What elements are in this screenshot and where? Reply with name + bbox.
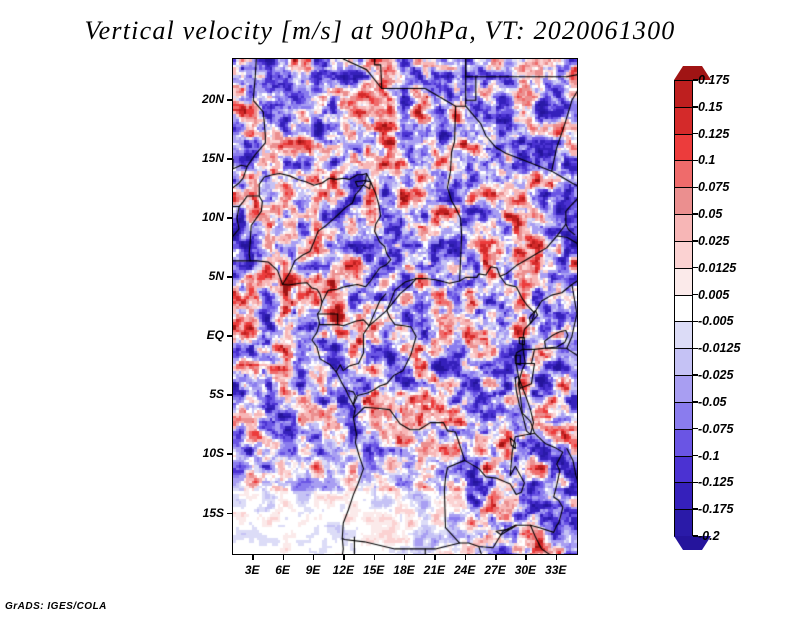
latitude-tick-mark — [227, 217, 232, 219]
longitude-tick-label: 27E — [484, 563, 505, 577]
colorbar-segment — [674, 241, 693, 269]
colorbar-tick-mark — [693, 106, 698, 107]
colorbar-tick-label: 0.15 — [698, 100, 722, 114]
colorbar-tick-mark — [693, 133, 698, 134]
colorbar-segment — [674, 80, 693, 108]
longitude-tick-mark — [313, 555, 315, 560]
colorbar-tick-label: 0.175 — [698, 73, 729, 87]
colorbar-tick-label: -0.2 — [698, 529, 720, 543]
longitude-tick-mark — [465, 555, 467, 560]
colorbar-tick-label: 0.075 — [698, 180, 729, 194]
colorbar-segment — [674, 134, 693, 162]
colorbar-tick-mark — [693, 348, 698, 349]
colorbar-tick-mark — [693, 482, 698, 483]
colorbar-tick-mark — [693, 455, 698, 456]
longitude-tick-label: 33E — [545, 563, 566, 577]
latitude-tick-label: 10S — [186, 446, 224, 460]
colorbar-segment — [674, 429, 693, 457]
latitude-tick-label: 5S — [186, 387, 224, 401]
latitude-tick-label: 20N — [186, 92, 224, 106]
longitude-tick-mark — [283, 555, 285, 560]
footer-credit: GrADS: IGES/COLA — [5, 601, 107, 612]
colorbar-segment — [674, 187, 693, 215]
colorbar-segment — [674, 268, 693, 296]
longitude-tick-label: 15E — [363, 563, 384, 577]
longitude-tick-label: 30E — [515, 563, 536, 577]
map-plot-area — [232, 58, 578, 555]
longitude-tick-mark — [404, 555, 406, 560]
latitude-tick-mark — [227, 276, 232, 278]
latitude-tick-mark — [227, 335, 232, 337]
colorbar-tick-mark — [693, 321, 698, 322]
longitude-tick-mark — [434, 555, 436, 560]
colorbar-segment — [674, 482, 693, 510]
colorbar-tick-mark — [693, 428, 698, 429]
longitude-tick-mark — [374, 555, 376, 560]
colorbar-tick-mark — [693, 79, 698, 80]
latitude-tick-mark — [227, 513, 232, 515]
longitude-tick-label: 3E — [245, 563, 260, 577]
colorbar-tick-mark — [693, 160, 698, 161]
colorbar: 0.1750.150.1250.10.0750.050.0250.01250.0… — [674, 66, 693, 550]
colorbar-tick-mark — [693, 267, 698, 268]
colorbar-tick-label: 0.025 — [698, 234, 729, 248]
colorbar-tick-mark — [693, 535, 698, 536]
colorbar-segment — [674, 375, 693, 403]
latitude-tick-label: 15S — [186, 506, 224, 520]
colorbar-tick-label: -0.125 — [698, 475, 733, 489]
colorbar-tick-label: -0.005 — [698, 314, 733, 328]
colorbar-segment — [674, 509, 693, 537]
colorbar-tick-label: 0.005 — [698, 288, 729, 302]
colorbar-segment — [674, 214, 693, 242]
longitude-tick-label: 18E — [393, 563, 414, 577]
colorbar-segment — [674, 321, 693, 349]
longitude-tick-mark — [525, 555, 527, 560]
colorbar-tick-mark — [693, 401, 698, 402]
latitude-tick-mark — [227, 99, 232, 101]
colorbar-segment — [674, 456, 693, 484]
longitude-tick-mark — [343, 555, 345, 560]
colorbar-tick-mark — [693, 240, 698, 241]
latitude-tick-label: 5N — [186, 269, 224, 283]
latitude-tick-mark — [227, 453, 232, 455]
colorbar-segment — [674, 107, 693, 135]
colorbar-tick-label: -0.075 — [698, 422, 733, 436]
colorbar-segment — [674, 402, 693, 430]
latitude-tick-mark — [227, 394, 232, 396]
colorbar-segment — [674, 348, 693, 376]
colorbar-tick-mark — [693, 508, 698, 509]
colorbar-tick-mark — [693, 213, 698, 214]
colorbar-tick-label: -0.05 — [698, 395, 727, 409]
colorbar-tick-label: -0.1 — [698, 449, 720, 463]
longitude-tick-mark — [556, 555, 558, 560]
colorbar-tick-label: -0.175 — [698, 502, 733, 516]
longitude-tick-label: 6E — [275, 563, 290, 577]
longitude-tick-label: 9E — [306, 563, 321, 577]
latitude-tick-label: EQ — [186, 328, 224, 342]
colorbar-tick-mark — [693, 374, 698, 375]
colorbar-segment — [674, 160, 693, 188]
colorbar-tick-mark — [693, 294, 698, 295]
longitude-tick-label: 24E — [454, 563, 475, 577]
colorbar-tick-label: -0.0125 — [698, 341, 740, 355]
colorbar-tick-label: -0.025 — [698, 368, 733, 382]
longitude-tick-label: 12E — [333, 563, 354, 577]
longitude-tick-mark — [495, 555, 497, 560]
longitude-tick-label: 21E — [424, 563, 445, 577]
colorbar-tick-label: 0.0125 — [698, 261, 736, 275]
colorbar-tick-label: 0.125 — [698, 127, 729, 141]
page-title: Vertical velocity [m/s] at 900hPa, VT: 2… — [0, 16, 760, 46]
colorbar-segment — [674, 295, 693, 323]
colorbar-tick-mark — [693, 187, 698, 188]
longitude-tick-mark — [252, 555, 254, 560]
latitude-tick-label: 15N — [186, 151, 224, 165]
latitude-tick-mark — [227, 158, 232, 160]
colorbar-tick-label: 0.1 — [698, 153, 715, 167]
latitude-tick-label: 10N — [186, 210, 224, 224]
country-borders-overlay — [233, 59, 578, 555]
colorbar-tick-label: 0.05 — [698, 207, 722, 221]
